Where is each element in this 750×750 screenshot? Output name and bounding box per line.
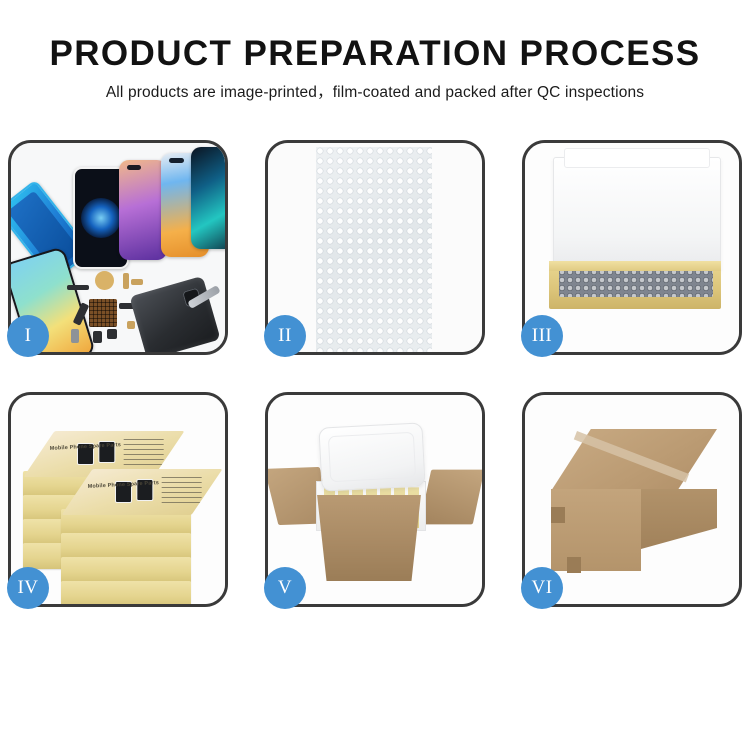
step-badge-2: II bbox=[264, 315, 306, 357]
step-badge-1: I bbox=[7, 315, 49, 357]
stacked-box-front-3 bbox=[61, 557, 191, 583]
box-art-textlines-a bbox=[124, 439, 164, 467]
foam-lid-icon bbox=[553, 157, 721, 271]
screw-part-icon bbox=[127, 321, 135, 329]
process-step-grid: I II III bbox=[8, 140, 742, 607]
chip-part-icon bbox=[89, 299, 117, 327]
page-subtitle: All products are image-printed，film-coat… bbox=[0, 83, 750, 103]
page-header: PRODUCT PREPARATION PROCESS All products… bbox=[0, 0, 750, 103]
earpiece-part-icon bbox=[67, 285, 89, 290]
camera-part-icon bbox=[93, 331, 102, 343]
stacked-box-front-2 bbox=[61, 533, 191, 559]
box-stack: Mobile Phone Spare Parts Mobile Phone Sp… bbox=[17, 417, 225, 599]
carton-seam-top-icon bbox=[551, 507, 565, 523]
process-step-panel-4[interactable]: Mobile Phone Spare Parts Mobile Phone Sp… bbox=[8, 392, 228, 607]
sim-tray-part-icon bbox=[71, 329, 79, 343]
yellow-box-lip-icon bbox=[549, 261, 721, 271]
step-badge-5: V bbox=[264, 567, 306, 609]
phone-back-cover-icon bbox=[129, 276, 220, 352]
carton-seam-bottom-icon bbox=[567, 557, 581, 573]
phone-teal-display-icon bbox=[191, 147, 225, 249]
speaker-part-icon bbox=[95, 271, 114, 290]
process-step-panel-6[interactable]: VI bbox=[522, 392, 742, 607]
flex-connector-part-icon bbox=[131, 279, 143, 285]
step-badge-4: IV bbox=[7, 567, 49, 609]
flex-cable-part-icon bbox=[123, 273, 129, 289]
box-art-textlines-b bbox=[162, 477, 202, 505]
vibrator-part-icon bbox=[107, 329, 117, 339]
page-title: PRODUCT PREPARATION PROCESS bbox=[0, 34, 750, 74]
step-badge-3: III bbox=[521, 315, 563, 357]
carton-front-face-icon bbox=[551, 489, 641, 571]
bubble-wrapped-contents-icon bbox=[559, 269, 713, 297]
bubble-wrap-bag-icon bbox=[316, 147, 432, 352]
process-step-panel-3[interactable]: III bbox=[522, 140, 742, 355]
carton-side-face-icon bbox=[641, 489, 717, 549]
step-badge-6: VI bbox=[521, 567, 563, 609]
carton-body-icon bbox=[310, 495, 428, 581]
process-step-panel-5[interactable]: V bbox=[265, 392, 485, 607]
carton-flap-right-icon bbox=[420, 470, 482, 525]
process-step-panel-1[interactable]: I bbox=[8, 140, 228, 355]
phone-purple-display-icon bbox=[119, 160, 167, 260]
stacked-box-front-4 bbox=[61, 581, 191, 604]
foam-cover-lid-icon bbox=[318, 422, 425, 491]
process-step-panel-2[interactable]: II bbox=[265, 140, 485, 355]
